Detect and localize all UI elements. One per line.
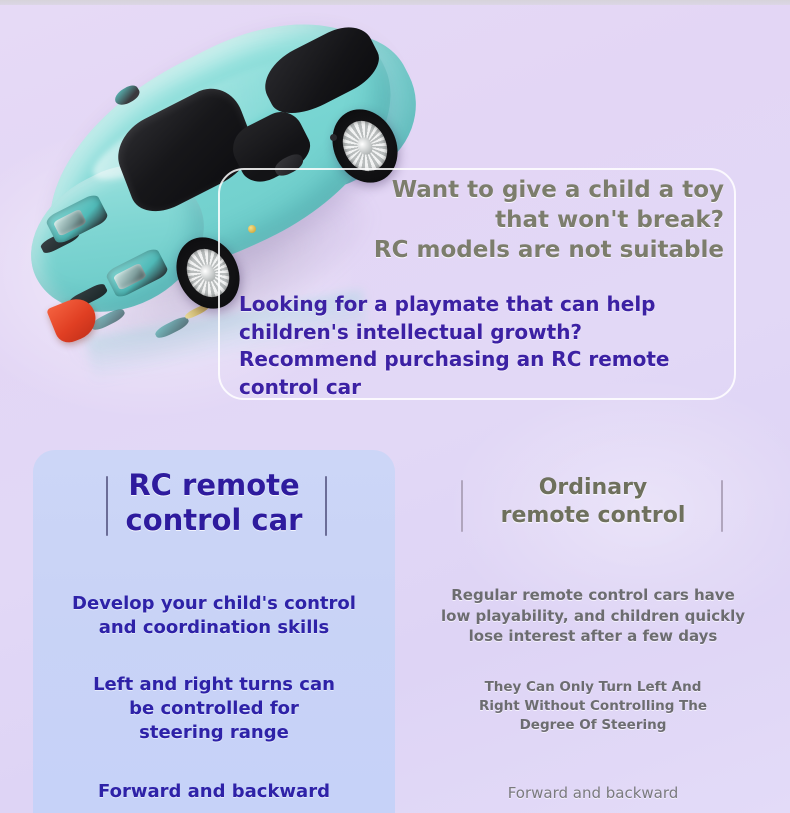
grey-headline-line-3: RC models are not suitable bbox=[262, 236, 724, 266]
ordinary-feature-2-line-3: Degree Of Steering bbox=[413, 716, 773, 735]
purple-headline-line-1: Looking for a playmate that can help bbox=[239, 291, 709, 319]
rc-car-feature-1-line-2: and coordination skills bbox=[33, 616, 395, 640]
ordinary-feature-1-line-3: lose interest after a few days bbox=[413, 626, 773, 647]
ordinary-feature-1-line-1: Regular remote control cars have bbox=[413, 585, 773, 606]
comparison-section: RC remote control car Develop your child… bbox=[0, 440, 790, 813]
car-fuel-cap bbox=[330, 134, 337, 141]
rc-car-feature-2-line-1: Left and right turns can bbox=[33, 673, 395, 697]
ordinary-feature-3: Forward and backward bbox=[413, 784, 773, 802]
headlight-lens-lower bbox=[113, 263, 147, 291]
rc-car-title-line-2: control car bbox=[33, 503, 395, 538]
ordinary-title-line-1: Ordinary bbox=[413, 474, 773, 502]
rc-car-feature-2-line-3: steering range bbox=[33, 721, 395, 745]
grey-headline-line-2: that won't break? bbox=[262, 206, 724, 236]
purple-headline-line-3: Recommend purchasing an RC remote bbox=[239, 346, 709, 374]
callout-purple-headline: Looking for a playmate that can help chi… bbox=[239, 291, 709, 401]
rc-car-feature-2: Left and right turns can be controlled f… bbox=[33, 673, 395, 744]
hero-section: Want to give a child a toy that won't br… bbox=[0, 0, 790, 440]
ordinary-feature-2: They Can Only Turn Left And Right Withou… bbox=[413, 678, 773, 735]
purple-headline-line-4: control car bbox=[239, 374, 709, 402]
purple-headline-line-2: children's intellectual growth? bbox=[239, 319, 709, 347]
rc-car-feature-3-line-1: Forward and backward bbox=[33, 781, 395, 802]
headlight-lens-upper bbox=[53, 209, 87, 237]
ordinary-feature-2-line-1: They Can Only Turn Left And bbox=[413, 678, 773, 697]
rc-car-feature-1: Develop your child's control and coordin… bbox=[33, 592, 395, 640]
ordinary-column-title: Ordinary remote control bbox=[413, 474, 773, 529]
rc-car-feature-1-line-1: Develop your child's control bbox=[33, 592, 395, 616]
ordinary-feature-3-line-1: Forward and backward bbox=[413, 784, 773, 802]
product-infographic-page: Want to give a child a toy that won't br… bbox=[0, 0, 790, 813]
ordinary-feature-1: Regular remote control cars have low pla… bbox=[413, 585, 773, 647]
callout-grey-headline: Want to give a child a toy that won't br… bbox=[262, 176, 724, 266]
rc-car-title-line-1: RC remote bbox=[33, 468, 395, 503]
ordinary-feature-2-line-2: Right Without Controlling The bbox=[413, 697, 773, 716]
comparison-column-rc-car: RC remote control car Develop your child… bbox=[33, 440, 395, 813]
rc-car-column-title: RC remote control car bbox=[33, 468, 395, 539]
grey-headline-line-1: Want to give a child a toy bbox=[262, 176, 724, 206]
comparison-column-ordinary: Ordinary remote control Regular remote c… bbox=[413, 440, 773, 813]
rc-car-feature-3: Forward and backward bbox=[33, 781, 395, 802]
car-gold-trim-dot bbox=[248, 225, 256, 233]
ordinary-feature-1-line-2: low playability, and children quickly bbox=[413, 606, 773, 627]
ordinary-title-line-2: remote control bbox=[413, 502, 773, 530]
rc-car-feature-2-line-2: be controlled for bbox=[33, 697, 395, 721]
